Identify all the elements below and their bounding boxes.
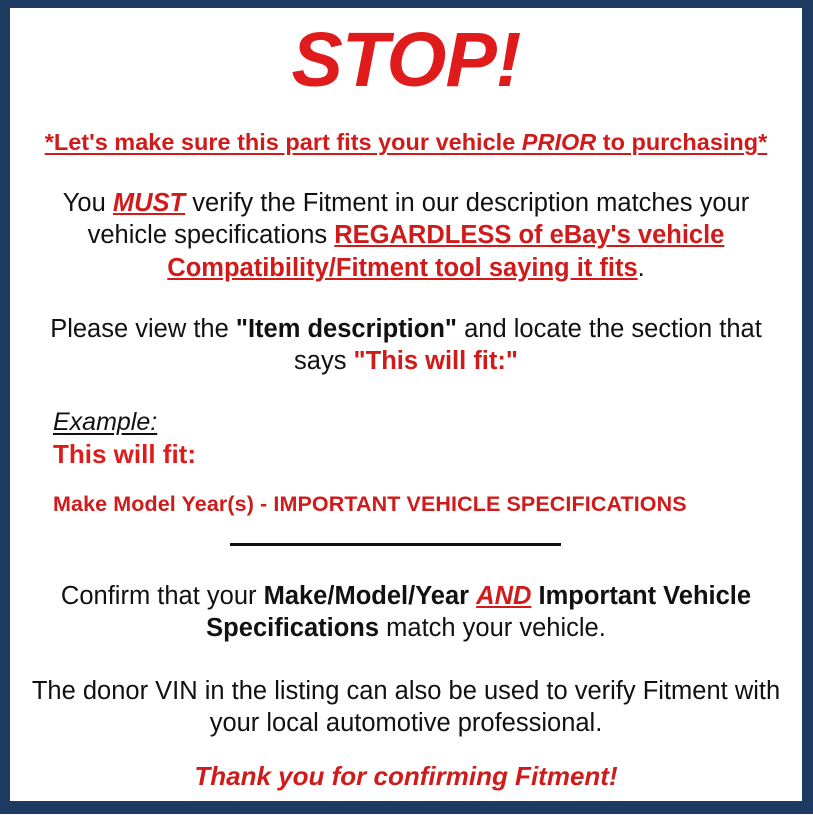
- closing-thank-you: Thank you for confirming Fitment!: [16, 761, 796, 792]
- confirm-lead-text: Confirm that your: [61, 582, 264, 610]
- stop-headline: STOP!: [16, 22, 796, 99]
- paragraph-donor-vin: The donor VIN in the listing can also be…: [16, 675, 796, 740]
- paragraph-must-verify: You MUST verify the Fitment in our descr…: [16, 187, 796, 284]
- section-divider-wrap: [16, 539, 796, 551]
- must-lead-text: You: [63, 189, 113, 217]
- must-tail-text: .: [638, 254, 645, 282]
- view-lead-text: Please view the: [50, 315, 236, 343]
- example-spec-line: Make Model Year(s) - IMPORTANT VEHICLE S…: [53, 492, 796, 518]
- item-description-emphasis: "Item description": [236, 315, 457, 343]
- make-model-year-emphasis: Make/Model/Year: [264, 582, 477, 610]
- example-block: Example: This will fit: Make Model Year(…: [16, 408, 796, 518]
- confirm-tail-text: match your vehicle.: [379, 614, 606, 642]
- subtitle-part-2: to purchasing*: [596, 129, 767, 155]
- fitment-notice-card: STOP! *Let's make sure this part fits yo…: [0, 0, 813, 814]
- subtitle-banner: *Let's make sure this part fits your veh…: [16, 130, 796, 156]
- subtitle-emphasis-prior: PRIOR: [522, 129, 596, 155]
- must-emphasis: MUST: [113, 189, 185, 217]
- paragraph-confirm-match: Confirm that your Make/Model/Year AND Im…: [16, 580, 796, 645]
- example-this-will-fit: This will fit:: [53, 438, 796, 471]
- and-emphasis: AND: [476, 582, 531, 610]
- example-label: Example:: [53, 408, 796, 437]
- notice-content-area: STOP! *Let's make sure this part fits yo…: [10, 22, 802, 815]
- subtitle-part-1: *Let's make sure this part fits your veh…: [45, 129, 522, 155]
- section-divider: [230, 543, 561, 546]
- this-will-fit-quote: "This will fit:": [354, 347, 518, 375]
- paragraph-item-description: Please view the "Item description" and l…: [16, 313, 796, 378]
